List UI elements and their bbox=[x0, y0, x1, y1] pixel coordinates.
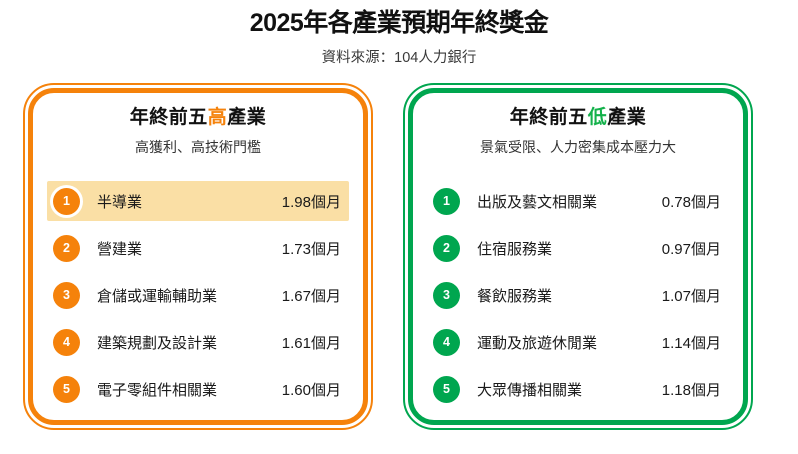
panel-heading-prefix: 年終前五 bbox=[130, 107, 208, 128]
panel-subheading-low: 景氣受限、人力密集成本壓力大 bbox=[408, 130, 748, 156]
table-row[interactable]: 3 餐飲服務業 1.07個月 bbox=[427, 275, 729, 315]
rank-list-low: 1 出版及藝文相關業 0.78個月 2 住宿服務業 0.97個月 3 餐飲服務業… bbox=[408, 181, 748, 416]
industry-name: 電子零組件相關業 bbox=[80, 379, 282, 400]
rank-badge: 2 bbox=[433, 235, 460, 262]
industry-name: 餐飲服務業 bbox=[460, 285, 662, 306]
rank-badge: 3 bbox=[53, 282, 80, 309]
table-row[interactable]: 4 運動及旅遊休閒業 1.14個月 bbox=[427, 322, 729, 362]
industry-name: 營建業 bbox=[80, 238, 282, 259]
table-row[interactable]: 1 出版及藝文相關業 0.78個月 bbox=[427, 181, 729, 221]
industry-name: 出版及藝文相關業 bbox=[460, 191, 662, 212]
table-row[interactable]: 2 住宿服務業 0.97個月 bbox=[427, 228, 729, 268]
industry-name: 運動及旅遊休閒業 bbox=[460, 332, 662, 353]
rank-badge: 5 bbox=[53, 376, 80, 403]
panel-subheading-high: 高獲利、高技術門檻 bbox=[28, 130, 368, 156]
table-row[interactable]: 2 營建業 1.73個月 bbox=[47, 228, 349, 268]
industry-name: 半導業 bbox=[80, 191, 282, 212]
table-row[interactable]: 1 半導業 1.98個月 bbox=[47, 181, 349, 221]
rank-badge: 5 bbox=[433, 376, 460, 403]
panel-heading-suffix: 產業 bbox=[607, 107, 646, 128]
rank-badge: 1 bbox=[433, 188, 460, 215]
industry-name: 倉儲或運輸輔助業 bbox=[80, 285, 282, 306]
rank-badge: 3 bbox=[433, 282, 460, 309]
panel-heading-accent: 低 bbox=[588, 107, 608, 128]
industry-name: 住宿服務業 bbox=[460, 238, 662, 259]
bonus-value: 1.67個月 bbox=[282, 285, 349, 306]
table-row[interactable]: 4 建築規劃及設計業 1.61個月 bbox=[47, 322, 349, 362]
bonus-value: 1.98個月 bbox=[282, 191, 349, 212]
data-source-note: 資料來源：104人力銀行 bbox=[0, 39, 798, 67]
panel-top-low-industries: 年終前五低產業 景氣受限、人力密集成本壓力大 1 出版及藝文相關業 0.78個月… bbox=[408, 88, 748, 425]
panel-heading-prefix: 年終前五 bbox=[510, 107, 588, 128]
bonus-value: 0.97個月 bbox=[662, 238, 729, 259]
bonus-value: 1.18個月 bbox=[662, 379, 729, 400]
table-row[interactable]: 5 電子零組件相關業 1.60個月 bbox=[47, 369, 349, 409]
panel-top-high-industries: 年終前五高產業 高獲利、高技術門檻 1 半導業 1.98個月 2 營建業 1.7… bbox=[28, 88, 368, 425]
panel-heading-suffix: 產業 bbox=[227, 107, 266, 128]
table-row[interactable]: 5 大眾傳播相關業 1.18個月 bbox=[427, 369, 729, 409]
rank-list-high: 1 半導業 1.98個月 2 營建業 1.73個月 3 倉儲或運輸輔助業 1.6… bbox=[28, 181, 368, 416]
bonus-value: 1.61個月 bbox=[282, 332, 349, 353]
industry-name: 建築規劃及設計業 bbox=[80, 332, 282, 353]
panel-heading-low: 年終前五低產業 bbox=[408, 88, 748, 130]
bonus-value: 0.78個月 bbox=[662, 191, 729, 212]
table-row[interactable]: 3 倉儲或運輸輔助業 1.67個月 bbox=[47, 275, 349, 315]
rank-badge: 2 bbox=[53, 235, 80, 262]
rank-badge: 4 bbox=[53, 329, 80, 356]
rank-badge: 1 bbox=[53, 188, 80, 215]
rank-badge: 4 bbox=[433, 329, 460, 356]
industry-name: 大眾傳播相關業 bbox=[460, 379, 662, 400]
page-title: 2025年各產業預期年終獎金 bbox=[0, 0, 798, 39]
bonus-value: 1.73個月 bbox=[282, 238, 349, 259]
bonus-value: 1.14個月 bbox=[662, 332, 729, 353]
chart-header: 2025年各產業預期年終獎金 資料來源：104人力銀行 bbox=[0, 0, 798, 67]
panel-heading-high: 年終前五高產業 bbox=[28, 88, 368, 130]
bonus-value: 1.07個月 bbox=[662, 285, 729, 306]
bonus-value: 1.60個月 bbox=[282, 379, 349, 400]
panel-heading-accent: 高 bbox=[208, 107, 228, 128]
